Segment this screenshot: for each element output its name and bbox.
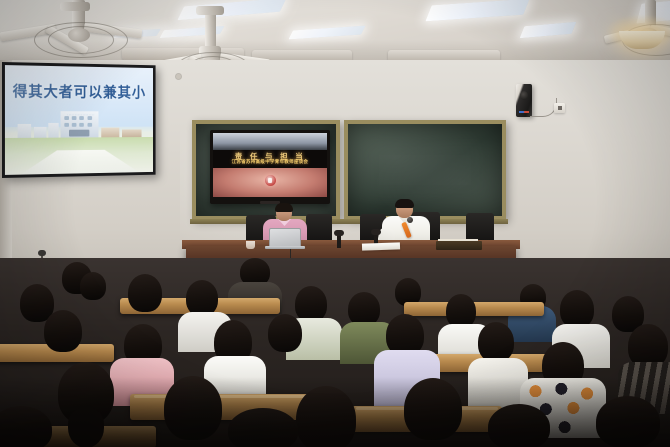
speaker-right-hair (395, 199, 414, 208)
speaker-led-indicator (519, 111, 529, 113)
chalk-tray (190, 219, 508, 224)
desk-microphone (337, 234, 341, 248)
ceiling-panel-light (288, 26, 365, 40)
wall-sensor-icon (176, 74, 181, 79)
tea-cup (246, 241, 255, 249)
banner-subtitle-text: 江苏省苏州高级中学青年教师座谈会 (213, 159, 327, 165)
ceiling-panel-light (425, 0, 529, 21)
laptop-lid (269, 228, 301, 247)
ceiling-panel-light (177, 0, 286, 20)
display-header-band (213, 133, 327, 150)
microphone-head-icon (407, 217, 413, 223)
projection-screen-surface: 得其大者可以兼其小 ·················· (5, 65, 153, 175)
attendee-head (348, 292, 380, 326)
attendee-head (128, 274, 162, 312)
wall-outlet (554, 103, 565, 113)
attendee-head (80, 272, 106, 300)
attendee-head (186, 280, 218, 316)
foreground-shadow (0, 377, 670, 447)
school-emblem-icon (265, 175, 276, 186)
chalk-dust-texture (348, 124, 502, 216)
ceiling-panel-light (520, 22, 577, 38)
attendee-head (268, 314, 302, 352)
audience-area (0, 258, 670, 447)
document-stack (362, 242, 400, 250)
projection-screen: 得其大者可以兼其小 ·················· (2, 62, 156, 178)
attendee-head (560, 290, 594, 328)
attendee-head (44, 310, 82, 352)
attendee-head (478, 322, 514, 362)
notebook-folder (436, 241, 482, 250)
screen-glare (5, 65, 153, 175)
lecture-hall-photo: 得其大者可以兼其小 ·················· 责 任 与 担 当 江… (0, 0, 670, 447)
chalkboard-right-panel (344, 120, 506, 220)
attendee-head (295, 286, 327, 322)
display-surface: 责 任 与 担 当 江苏省苏州高级中学青年教师座谈会 (213, 133, 327, 197)
front-flat-panel-display: 责 任 与 担 当 江苏省苏州高级中学青年教师座谈会 (210, 130, 330, 204)
attendee-head (446, 294, 476, 328)
speaker-cone-icon (520, 91, 528, 100)
speaker-left-hair (275, 203, 293, 212)
